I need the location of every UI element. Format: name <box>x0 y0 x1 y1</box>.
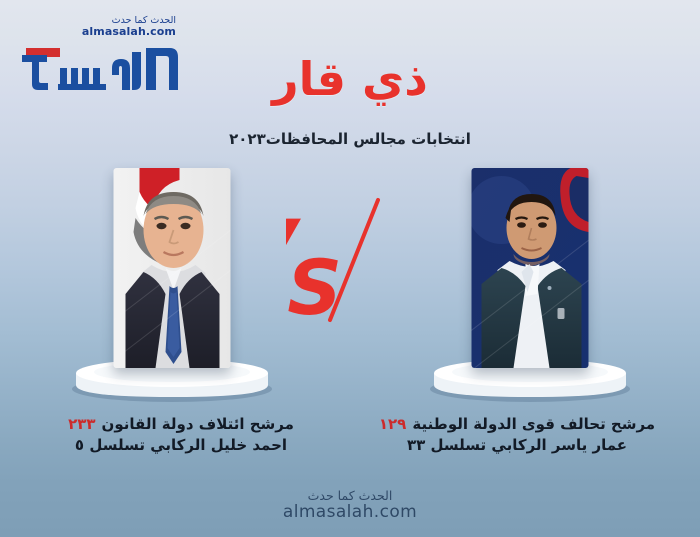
candidate-left-sequence-label: تسلسل <box>89 436 145 454</box>
candidate-left-name: احمد خليل الركابي <box>150 436 287 454</box>
candidate-left-party: مرشح ائتلاف دولة القانون <box>102 415 294 433</box>
candidate-left <box>42 168 302 403</box>
candidate-right-caption: مرشح تحالف قوى الدولة الوطنية١٢٩ عمار يا… <box>352 414 682 457</box>
logo-tagline: الحدث كما حدث almasalah.com <box>82 16 176 38</box>
candidate-left-party-line: مرشح ائتلاف دولة القانون٢٣٣ <box>16 414 346 435</box>
candidate-right <box>400 168 660 403</box>
candidate-left-caption: مرشح ائتلاف دولة القانون٢٣٣ احمد خليل ال… <box>16 414 346 457</box>
election-poster: الحدث كما حدث almasalah.com ذي قار انتخا… <box>0 0 700 537</box>
candidate-right-name-line: عمار ياسر الركابي تسلسل ٣٣ <box>352 435 682 456</box>
page-title: ذي قار <box>0 56 700 102</box>
candidate-right-photo <box>472 168 589 368</box>
logo-tagline-url: almasalah.com <box>82 26 176 38</box>
candidate-right-party-line: مرشح تحالف قوى الدولة الوطنية١٢٩ <box>352 414 682 435</box>
candidate-left-sequence-number: ٥ <box>75 436 84 454</box>
candidate-left-party-number: ٢٣٣ <box>68 415 95 433</box>
candidate-right-name: عمار ياسر الركابي <box>491 436 627 454</box>
candidate-left-name-line: احمد خليل الركابي تسلسل ٥ <box>16 435 346 456</box>
candidate-right-party-number: ١٢٩ <box>379 415 406 433</box>
vs-graphic: V S <box>286 196 414 324</box>
footer-tagline: الحدث كما حدث <box>0 489 700 503</box>
candidate-right-sequence-number: ٣٣ <box>407 436 425 454</box>
page-subtitle: انتخابات مجالس المحافظات٢٠٢٣ <box>0 130 700 148</box>
candidate-right-party: مرشح تحالف قوى الدولة الوطنية <box>412 415 655 433</box>
candidate-right-sequence-label: تسلسل <box>431 436 487 454</box>
candidate-left-photo <box>114 168 231 368</box>
footer-watermark: الحدث كما حدث almasalah.com <box>0 489 700 523</box>
footer-site: almasalah.com <box>0 503 700 523</box>
